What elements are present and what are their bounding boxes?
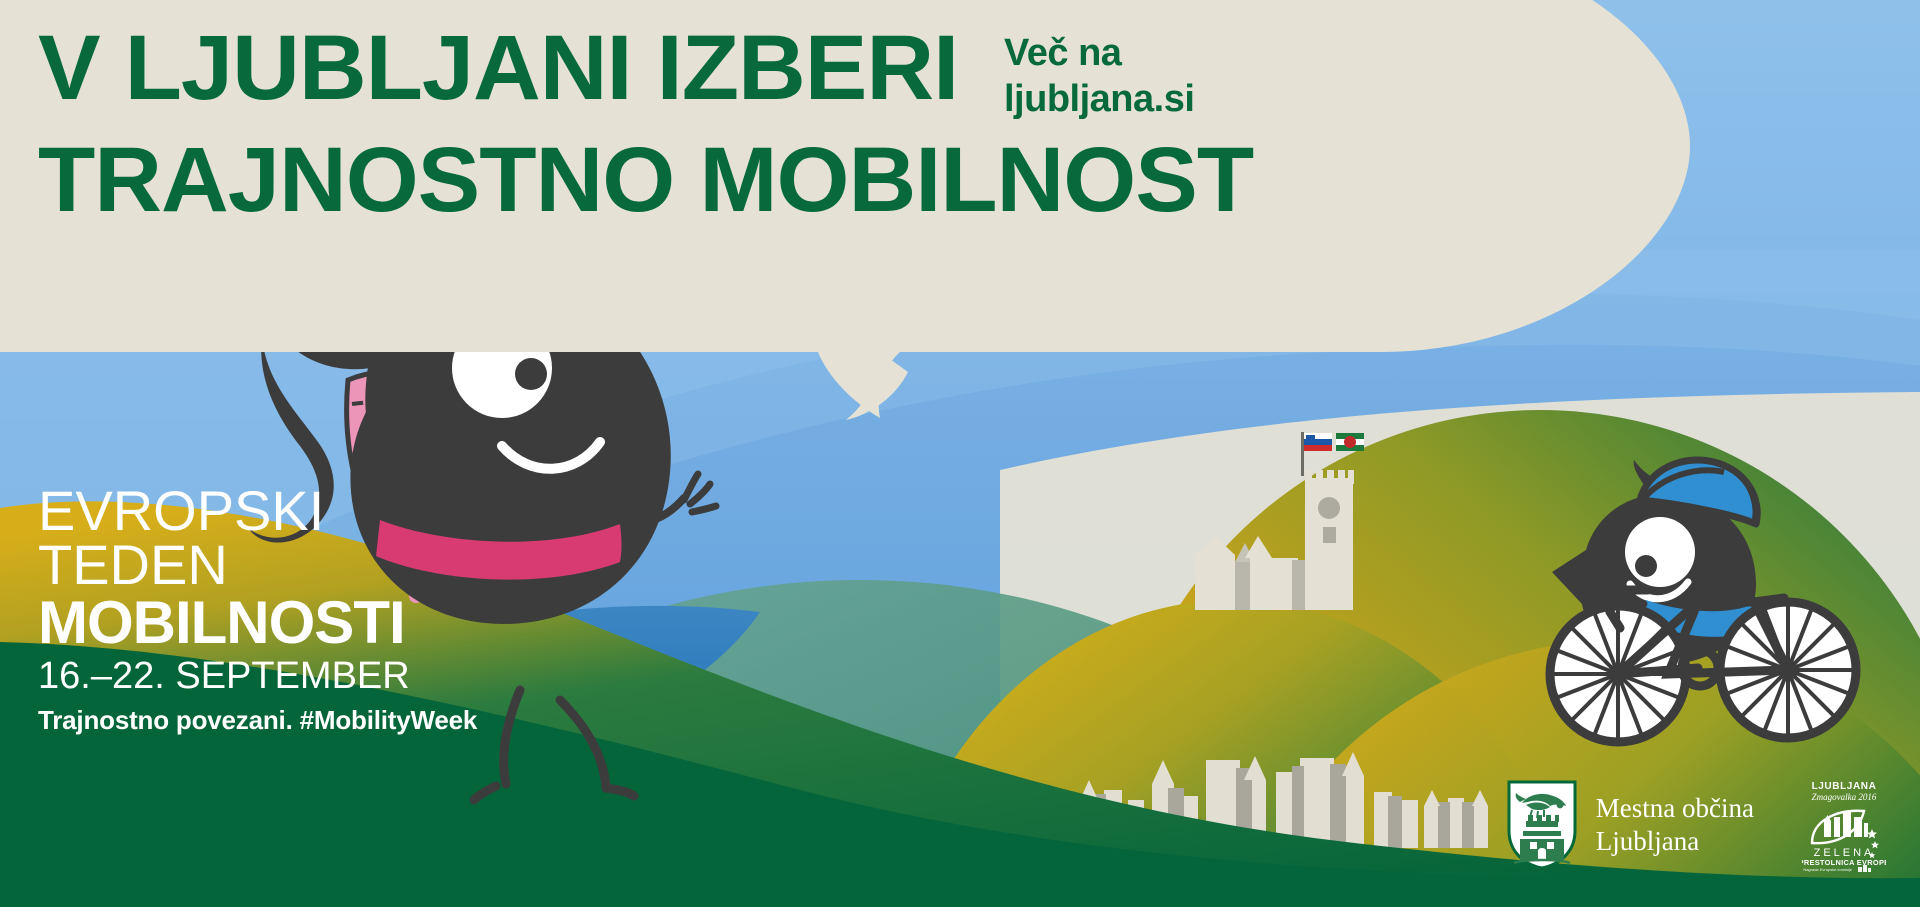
city-name-line-2: Ljubljana <box>1596 825 1754 858</box>
green-capital-logo: LJUBLJANA Zmagovalka 2016 ZELENA PRESTOL… <box>1802 777 1886 873</box>
emw-line-teden: TEDEN <box>38 538 477 592</box>
headline-line-2: TRAJNOSTNO MOBILNOST <box>38 134 1253 226</box>
emw-line-evropski: EVROPSKI <box>38 484 477 538</box>
svg-text:Nagrada Evropske komisije: Nagrada Evropske komisije <box>1803 867 1852 872</box>
svg-text:Zmagovalka 2016: Zmagovalka 2016 <box>1812 792 1877 802</box>
emw-branding-block: EVROPSKI TEDEN MOBILNOSTI 16.–22. SEPTEM… <box>38 484 477 742</box>
footer-logos: Mestna občina Ljubljana LJUBLJANA Zmagov… <box>1506 777 1886 873</box>
svg-text:PRESTOLNICA EVROPE: PRESTOLNICA EVROPE <box>1802 858 1886 867</box>
city-name-line-1: Mestna občina <box>1596 792 1754 825</box>
headline-line-1: V LJUBLJANI IZBERI <box>38 22 958 114</box>
emw-dates: 16.–22. SEPTEMBER <box>38 653 477 701</box>
city-name-text: Mestna občina Ljubljana <box>1596 792 1754 858</box>
more-info-block[interactable]: Več na ljubljana.si <box>1004 30 1194 123</box>
more-info-line-1: Več na <box>1004 30 1194 76</box>
svg-text:LJUBLJANA: LJUBLJANA <box>1812 781 1877 792</box>
emw-line-mobilnosti: MOBILNOSTI <box>38 593 477 653</box>
more-info-line-2[interactable]: ljubljana.si <box>1004 76 1194 122</box>
emw-tagline: Trajnostno povezani. #MobilityWeek <box>38 700 477 742</box>
poster-canvas: V LJUBLJANI IZBERI TRAJNOSTNO MOBILNOST … <box>0 0 1920 907</box>
ljubljana-coat-of-arms-icon <box>1506 779 1578 871</box>
